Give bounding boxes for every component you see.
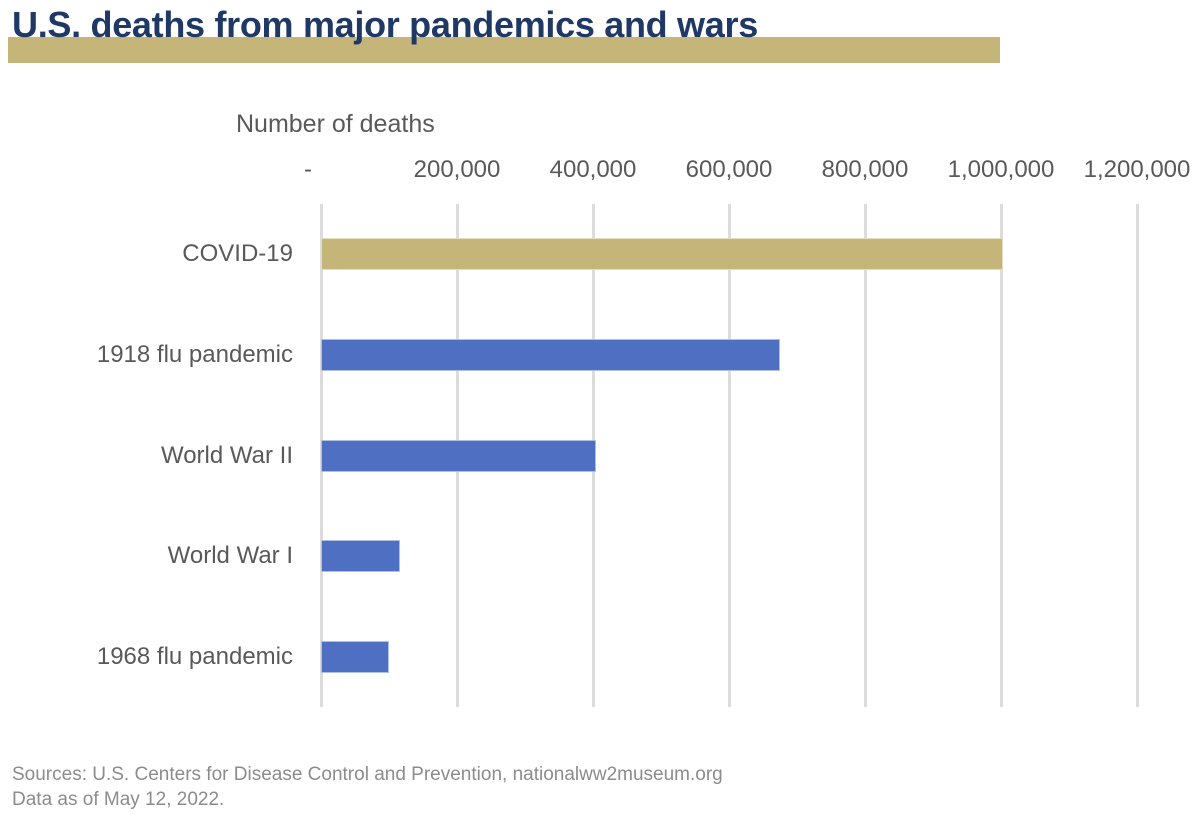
bar-1968-flu-pandemic[interactable] — [321, 641, 389, 673]
bar-world-war-ii[interactable] — [321, 440, 596, 472]
bar-covid-19[interactable] — [321, 238, 1003, 270]
footer-sources: Sources: U.S. Centers for Disease Contro… — [12, 762, 1012, 812]
x-axis-title: Number of deaths — [236, 110, 435, 139]
category-label-1: 1918 flu pandemic — [97, 339, 293, 371]
gridline-6 — [1136, 204, 1139, 707]
category-label-0: COVID-19 — [182, 238, 293, 270]
title-block: U.S. deaths from major pandemics and war… — [0, 0, 1200, 72]
x-tick-label-0: - — [304, 155, 312, 185]
y-axis-category-labels: COVID-191918 flu pandemicWorld War IIWor… — [0, 204, 310, 707]
x-tick-label-3: 600,000 — [686, 155, 773, 185]
plot-area — [321, 204, 1137, 707]
gridline-3 — [728, 204, 731, 707]
x-tick-label-4: 800,000 — [822, 155, 909, 185]
gridline-4 — [864, 204, 867, 707]
category-label-4: 1968 flu pandemic — [97, 641, 293, 673]
footer-sources-line: Sources: U.S. Centers for Disease Contro… — [12, 762, 1012, 787]
category-label-3: World War I — [168, 540, 293, 572]
x-axis-tick-labels: -200,000400,000600,000800,0001,000,0001,… — [0, 155, 1200, 189]
x-tick-label-1: 200,000 — [414, 155, 501, 185]
category-label-2: World War II — [161, 440, 293, 472]
page-title: U.S. deaths from major pandemics and war… — [12, 3, 758, 47]
bar-1918-flu-pandemic[interactable] — [321, 339, 780, 371]
footer-data-line: Data as of May 12, 2022. — [12, 787, 1012, 812]
x-tick-label-5: 1,000,000 — [948, 155, 1055, 185]
bar-world-war-i[interactable] — [321, 540, 400, 572]
x-tick-label-6: 1,200,000 — [1084, 155, 1191, 185]
gridline-5 — [1000, 204, 1003, 707]
x-tick-label-2: 400,000 — [550, 155, 637, 185]
